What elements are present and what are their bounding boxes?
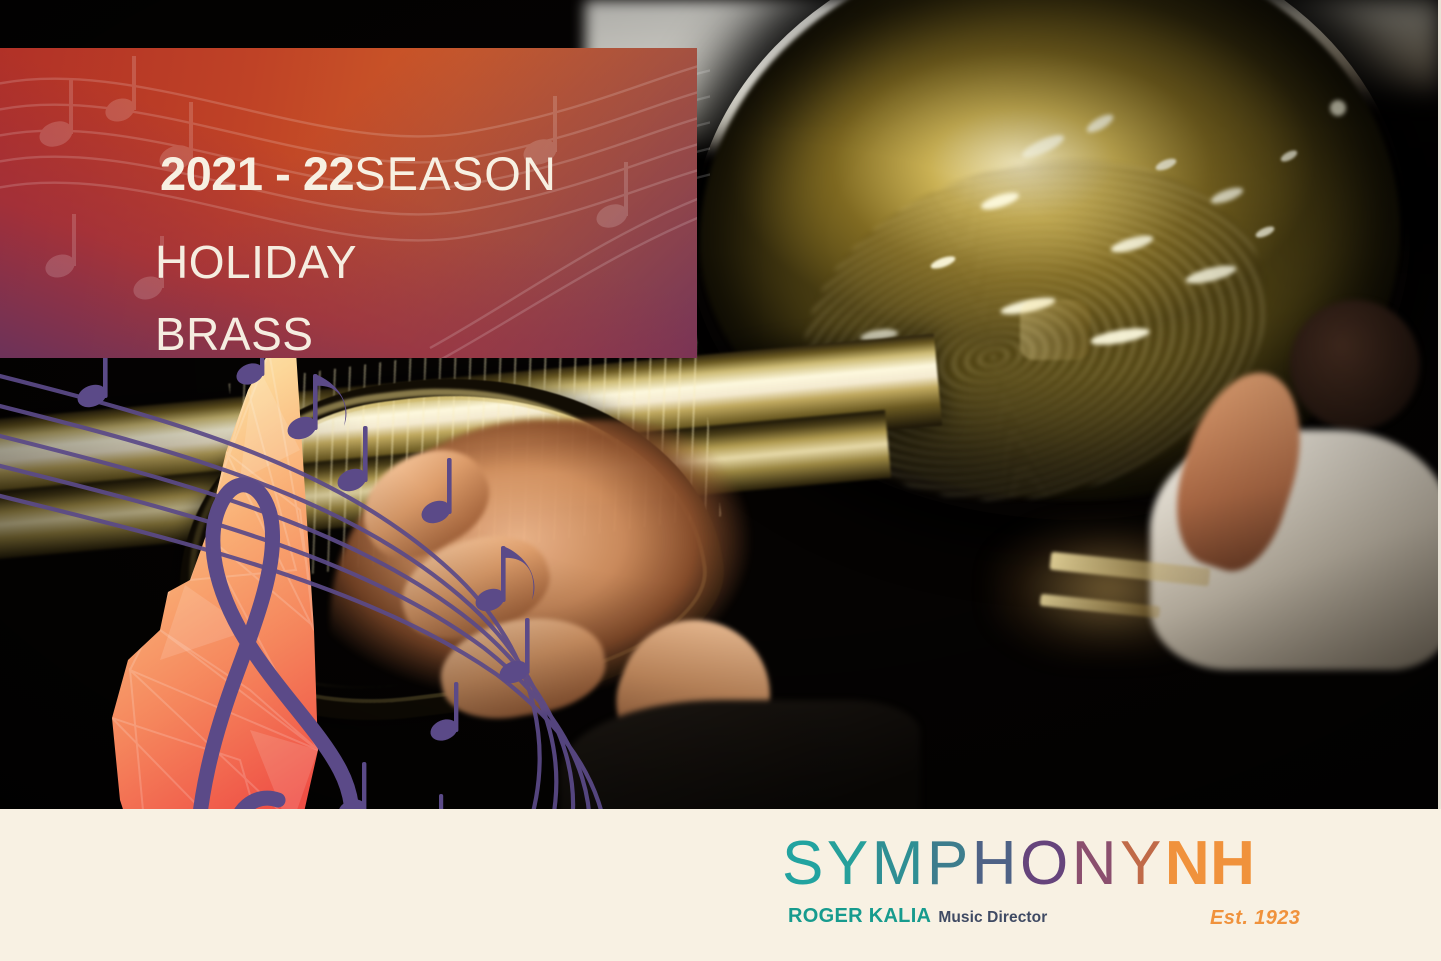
wordmark-letter-1: Y [827,829,872,898]
wordmark-nh: NH [1165,829,1256,898]
wordmark-letter-5: O [1020,829,1072,898]
poster-canvas: 2021 - 22SEASON HOLIDAY BRASS SYMPHONYNH… [0,0,1441,961]
stand-light-flare [1020,300,1090,360]
symphony-nh-logo[interactable]: SYMPHONYNH ROGER KALIAMusic Director Est… [782,833,1302,933]
conductor-name: ROGER KALIA [788,905,931,927]
conductor-role: Music Director [938,909,1047,926]
conductor-tagline: ROGER KALIAMusic Director [788,905,1047,928]
wordmark-letter-3: P [927,829,972,898]
established-text: Est. 1923 [1210,907,1300,930]
bell-glint [1330,100,1346,116]
wordmark-letter-7: Y [1120,829,1165,898]
footer-band: SYMPHONYNH ROGER KALIAMusic Director Est… [0,809,1441,961]
title-panel: 2021 - 22SEASON HOLIDAY BRASS [0,48,697,358]
concert-title-line-1: HOLIDAY [155,239,357,285]
wordmark-letter-2: M [872,829,927,898]
wordmark-letters: SYMPHONY [782,829,1165,898]
season-line: 2021 - 22SEASON [160,150,557,197]
wordmark-letter-0: S [782,829,827,898]
title-panel-staff-decor [0,48,697,358]
concert-title-line-2: BRASS [155,311,313,357]
wordmark-letter-4: H [972,829,1020,898]
season-year: 2021 - 22 [160,147,354,200]
wordmark-letter-6: N [1072,829,1120,898]
symphony-nh-wordmark: SYMPHONYNH [782,833,1255,895]
season-word: SEASON [354,147,557,200]
second-player-head [1290,300,1420,430]
